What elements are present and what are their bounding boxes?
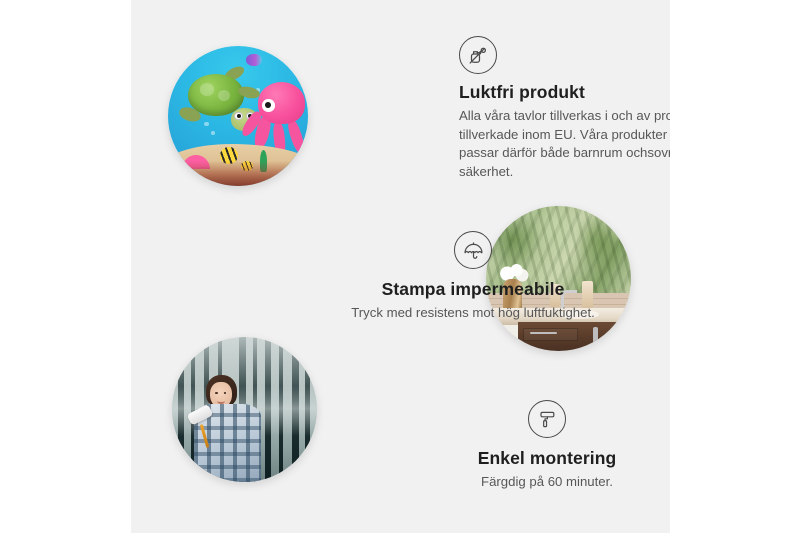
bubble-decor — [204, 122, 208, 126]
feature-title: Luktfri produkt — [459, 82, 670, 103]
photo-bottom-band — [168, 161, 308, 186]
photo-underwater-kids-mural — [168, 46, 308, 186]
feature-body: Alla våra tavlor tillverkas i och av pro… — [459, 107, 670, 182]
feature-easy-mounting: Enkel montering Färgdig på 60 minuter. — [437, 400, 657, 492]
octopus-eye — [262, 99, 274, 112]
photo-forest-wallpaper-decorator — [172, 337, 317, 482]
paint-roller-icon — [528, 400, 566, 438]
feature-title: Stampa impermeabile — [345, 279, 601, 300]
product-feature-graphic: Luktfri produkt Alla våra tavlor tillver… — [0, 0, 800, 533]
drawer-handle — [530, 332, 557, 333]
vanity-cabinet — [518, 322, 631, 351]
feature-title: Enkel montering — [437, 448, 657, 469]
octopus-head — [258, 82, 306, 124]
cabinet-handle — [593, 327, 598, 345]
no-fragrance-icon — [459, 36, 497, 74]
feature-odour-free: Luktfri produkt Alla våra tavlor tillver… — [459, 36, 670, 182]
feature-body: Tryck med resistens mot hög luftfuktighe… — [345, 304, 601, 323]
decorator-person — [192, 375, 262, 482]
turtle-eye — [234, 112, 242, 121]
cabinet-drawer — [523, 328, 579, 340]
feature-waterproof-print: Stampa impermeabile Tryck med resistens … — [345, 231, 601, 323]
fish-purple — [246, 54, 261, 65]
bubble-decor — [211, 131, 214, 134]
feature-panel: Luktfri produkt Alla våra tavlor tillver… — [131, 0, 670, 533]
umbrella-icon — [454, 231, 492, 269]
feature-body: Färgdig på 60 minuter. — [437, 473, 657, 492]
